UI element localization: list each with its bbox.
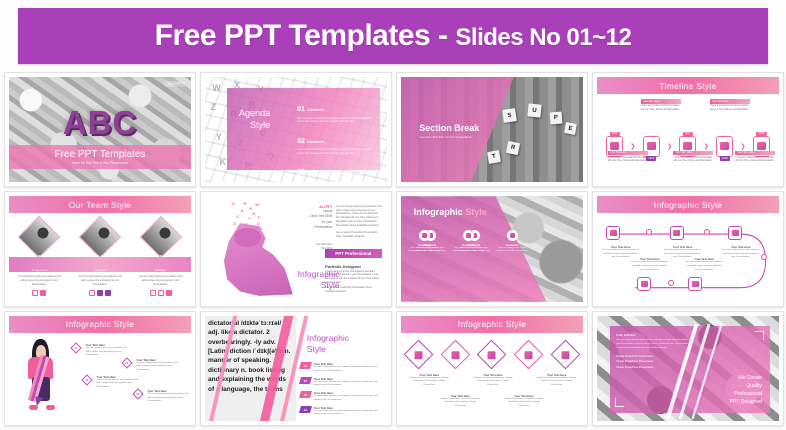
timeline-note-body: I hope and I believe that this Template … [608,157,648,164]
social-links [76,290,124,296]
slide-03-subtitle: Insert the Sub Title of Your Presentatio… [419,135,479,139]
slide-thumbnail-06[interactable]: ORW EAN CTF DZO BPX MTV ALLPPT Layout Cl… [200,191,392,306]
agenda-item-desc: Get a modern PowerPoint Presentation tha… [297,180,372,183]
woman-with-pencil-illustration [24,339,64,411]
diamond-node[interactable] [514,340,544,370]
portfolio-heading: Portfolio Designed [325,264,381,269]
person-icon [415,351,423,359]
path-infographic: Your Text Here You can simply impress yo… [597,213,779,301]
timeline-note-head: Your Text Here [608,151,648,156]
timeline-step-date: 2019 [756,132,766,136]
slide-04-title: Timeline Style [659,81,716,91]
slide-thumbnail-01[interactable]: ALLPPT ABC Free PPT Templates Insert the… [4,72,196,187]
pencil-item[interactable]: 01 Your Text Here You can simply impress… [85,343,129,358]
path-connector-dot [761,254,767,260]
diamond-note: Your Text Here Simple PowerPoint Present… [536,373,578,388]
banner-title-separator: - [430,19,455,52]
closing-tagline-line: PPT Designed [730,398,762,406]
agenda-item-label: Contents [307,170,324,175]
team-member-name: Tony Nelson [152,254,170,258]
timeline-note: Your Text Here I hope and I believe that… [608,151,648,164]
timeline-note-head: Your Text Here [710,99,750,104]
item-number: 01 [299,362,312,369]
corner-bracket-bottom-left [615,398,624,407]
timeline-note-body: I hope and I believe that this Template … [710,105,750,112]
page-banner: Free PPT Templates - Slides No 01~12 [18,8,768,64]
template-gallery-page: Free PPT Templates - Slides No 01~12 ALL… [0,0,786,430]
briefcase-icon [683,142,692,150]
node-body: You can simply impress your audience and… [450,247,486,254]
item-number: 02 [86,378,89,381]
slide-01-title: Free PPT Templates [9,149,191,160]
twitter-icon[interactable] [32,290,38,296]
slide-03-canvas: S U P E R T Section Break Insert the Sub… [401,77,583,182]
slide-12-canvas: Fully Editable You can simply impress yo… [597,316,779,421]
timeline-note: Your Text Here I hope and I believe that… [641,99,681,112]
share-icon [510,233,515,238]
slide-10-title: Infographic Style [307,333,349,356]
diamond-note-body: Simple PowerPoint Presentation, Simple P… [408,377,450,388]
agenda-item-number: 01 [297,106,305,113]
slide-05-title: Our Team Style [69,200,132,210]
banner-title-main: Free PPT Templates [155,19,431,52]
team-member-identity: Tony Nelson Manager [152,254,170,276]
timeline-step-date: 2017 [683,132,693,136]
social-links [15,290,63,296]
camera-icon [610,142,619,150]
slide-05-canvas: Our Team Style John Nesimer Programmer B… [9,196,191,301]
timeline-note: Your Text Here I hope and I believe that… [673,151,713,164]
diamond-node[interactable] [404,340,434,370]
agenda-item-desc: Get a modern PowerPoint Presentation tha… [297,148,372,156]
item-number-diamond: 02 [82,374,93,385]
numbered-item[interactable]: 03 Your Text Here You can simply impress… [300,391,382,402]
timeline-note-head: Your Text Here [673,151,713,156]
diamond-note-body: Simple PowerPoint Presentation, Simple P… [439,398,481,409]
title-band: Free PPT Templates Insert the Sub Title … [9,145,191,169]
item-body: You can simply impress your audience and… [96,379,140,390]
timeline-note-body: I hope and I believe that this Template … [735,157,775,164]
team-details: You can simply impress your audience and… [9,276,191,296]
person-head [234,228,261,247]
diamond-note-body: Simple PowerPoint Presentation, Simple P… [503,398,545,409]
infographic-node[interactable]: Contents You can simply impress your aud… [494,230,530,253]
diamond-node[interactable] [441,340,471,370]
slide-09-canvas: Infographic Style 01 Your Text Here You … [9,316,191,421]
slide-07-title-main: Infographic [414,207,463,217]
slide-06-title: Infographic Style [278,269,340,291]
trophy-icon [525,351,533,359]
youtube-icon[interactable] [158,290,164,296]
closing-link[interactable]: Simple PowerPoint Presentation [616,365,693,370]
avatar [79,215,121,257]
path-node[interactable] [670,226,684,240]
team-member-identity: Bella James Designer [92,254,109,276]
slide-thumbnail-11[interactable]: Infographic Style Your Text Here Simple … [396,311,588,426]
agenda-item-number: 02 [297,138,305,145]
agenda-item[interactable]: 02Contents Get a modern PowerPoint Prese… [297,130,372,156]
team-member-desc: You can simply impress your audience and… [15,276,63,287]
diamond-node[interactable] [550,340,580,370]
twitter-icon[interactable] [89,290,95,296]
timeline-step[interactable]: 2018 [716,136,733,157]
closing-heading: Fully Editable [616,333,693,337]
item-body: You can simply impress your audience and… [314,410,382,417]
pink-overlay-panel: Fully Editable You can simply impress yo… [610,326,770,412]
slide-07-canvas: Infographic Style Contents You can simpl… [401,196,583,301]
body-copy: You can simply impress your audience and… [336,205,382,242]
item-number: 03 [299,391,312,398]
shoe-shape [29,405,38,410]
left-label: Presentation [296,225,332,230]
briefcase-icon [692,281,699,287]
item-text: Your Text Here You can simply impress yo… [314,391,382,402]
abc-letters: ABC [9,104,191,142]
team-member-detail: You can simply impress your audience and… [15,276,63,296]
slide-09-title: Infographic Style [66,319,134,329]
path-node[interactable] [606,226,620,240]
team-member-detail: You can simply impress your audience and… [137,276,185,296]
camera-icon [732,230,739,236]
timeline-note: Your Text Here I hope and I believe that… [735,151,775,164]
closing-tagline-line: Quality [730,382,762,390]
slide-thumbnail-07[interactable]: Infographic Style Contents You can simpl… [396,191,588,306]
pencil-item[interactable]: 02 Your Text Here You can simply impress… [96,375,140,390]
numbered-item[interactable]: 04 Your Text Here You can simply impress… [300,406,382,417]
allppt-logo: ALLPPT [164,81,185,87]
slide-10-title-line2: Style [307,344,349,355]
item-number-diamond: 03 [122,357,133,368]
mail-icon [673,230,680,236]
slide-thumbnail-04[interactable]: Timeline Style Your Text Here I hope and… [592,72,784,187]
pencil-item[interactable]: 03 Your Text Here You can simply impress… [136,358,180,373]
corner-bracket-top-right [755,331,764,340]
timeline-note: Your Text Here I hope and I believe that… [710,99,750,112]
node-icon-circle [507,230,518,241]
diamond-note-body: Simple PowerPoint Presentation, Simple P… [536,377,578,388]
path-note-body: You can simply impress your audience and… [684,261,724,272]
agenda-item-label: Contents [307,139,324,144]
diamond-note: Your Text Here Simple PowerPoint Present… [408,373,450,388]
banner-title: Free PPT Templates - Slides No 01~12 [155,19,632,53]
slide-07-title-accent: Style [465,207,487,217]
slide-04-header: Timeline Style [597,77,779,94]
path-note-body: You can simply impress your audience and… [721,249,761,260]
chevron-right-icon: ❯ [667,143,672,150]
slide-10-canvas: dictatorial /dɪktəˈtɔːrɪəl/ adj. like a … [205,316,387,421]
cart-icon [488,351,496,359]
slide-07-title: Infographic Style [414,207,487,217]
slide-06-title-line1: Infographic [278,269,340,280]
node-icon-circle [419,230,430,241]
slide-thumbnail-03[interactable]: S U P E R T Section Break Insert the Sub… [396,72,588,187]
agenda-title-line2: Style [239,119,270,131]
lock-icon [561,351,569,359]
path-node[interactable] [637,277,651,291]
agenda-panel: Agenda Style 01Contents Get a modern Pow… [227,88,380,170]
team-member-desc: You can simply impress your audience and… [76,276,124,287]
slide-06-canvas: ORW EAN CTF DZO BPX MTV ALLPPT Layout Cl… [205,196,387,301]
agenda-title-line1: Agenda [239,107,270,119]
team-photos [9,222,191,252]
infographic-node[interactable]: Contents You can simply impress your aud… [450,230,486,253]
item-body: You can simply impress your audience and… [85,347,129,358]
section-break-text: Section Break Insert the Sub Title of Yo… [419,123,479,139]
node-body: You can simply impress your audience and… [494,247,530,254]
diamond-nodes [408,344,575,365]
timeline-step-date: 2018 [720,156,730,160]
item-number-diamond: 04 [133,389,144,400]
gear-icon [720,142,729,150]
chevron-right-icon: ❯ [630,143,635,150]
slide-grid: ALLPPT ABC Free PPT Templates Insert the… [4,72,784,426]
chat-icon [451,351,459,359]
avatar [18,215,60,257]
agenda-item-desc: Get a modern PowerPoint Presentation tha… [297,117,372,125]
slide-08-canvas: Infographic Style Your T [597,196,779,301]
slide-thumbnail-02[interactable]: WXY ZRB YZU KPQ Agenda Style 01Contents … [200,72,392,187]
agenda-item-number: 03 [297,169,305,176]
timeline-note-head: Your Text Here [641,99,681,104]
node-icon-circle [463,230,474,241]
slide-thumbnail-09[interactable]: Infographic Style 01 Your Text Here You … [4,311,196,426]
closing-tagline: We Create Quality Professional PPT Desig… [730,374,762,406]
agenda-item[interactable]: 03Contents Get a modern PowerPoint Prese… [297,161,372,182]
body-paragraph: Get a modern PowerPoint Presentation tha… [336,231,382,239]
social-links [137,290,185,296]
timeline-note-head: Your Text Here [735,151,775,156]
team-member-identity: John Nesimer Programmer [30,254,50,276]
agenda-items: 01Contents Get a modern PowerPoint Prese… [297,98,372,182]
team-member-name: Bella James [92,254,109,258]
infographic-node[interactable]: Contents You can simply impress your aud… [406,230,442,253]
slide-02-canvas: WXY ZRB YZU KPQ Agenda Style 01Contents … [205,77,387,182]
item-number: 01 [75,347,78,350]
slide-11-title: Infographic Style [458,319,526,329]
slide-11-canvas: Infographic Style Your Text Here Simple … [401,316,583,421]
timeline-note-body: I hope and I believe that this Template … [641,105,681,112]
chevron-right-icon: ❯ [740,143,745,150]
share-icon [610,230,617,236]
agenda-title: Agenda Style [239,107,270,131]
timeline-body: Your Text Here I hope and I believe that… [597,94,779,182]
slide-thumbnail-05[interactable]: Our Team Style John Nesimer Programmer B… [4,191,196,306]
slide-thumbnail-08[interactable]: Infographic Style Your T [592,191,784,306]
agenda-item-label: Contents [307,107,324,112]
slide-08-title: Infographic Style [654,200,722,210]
rocket-icon [757,142,766,150]
youtube-icon[interactable] [40,290,46,296]
slide-04-canvas: Timeline Style Your Text Here I hope and… [597,77,779,182]
slide-03-title: Section Break [419,123,479,133]
item-number: 04 [299,406,312,413]
team-name-band: John Nesimer Programmer Bella James Desi… [9,257,191,272]
path-note: Your Text Here You can simply impress yo… [721,245,761,260]
closing-tagline-line: We Create [730,374,762,382]
lightbulb-icon [422,233,427,238]
youtube-icon[interactable] [97,290,103,296]
path-node[interactable] [688,277,702,291]
item-number: 03 [126,361,129,364]
item-text: Your Text Here You can simply impress yo… [314,362,382,373]
diamond-note: Your Text Here Simple PowerPoint Present… [439,394,481,409]
timeline-note-body: I hope and I believe that this Template … [673,157,713,164]
chevron-right-icon: ❯ [704,143,709,150]
slide-01-subtitle: Insert the Sub Title of Your Presentatio… [9,161,191,165]
timeline-step-date: 2015 [610,132,620,136]
team-member-name: John Nesimer [30,254,50,258]
twitter-icon[interactable] [150,290,156,296]
item-body: You can simply impress your audience and… [314,366,382,373]
shoe-shape [46,405,55,410]
avatar [139,215,181,257]
numbered-item[interactable]: 01 Your Text Here You can simply impress… [300,362,382,373]
left-label-column: ALLPPT Layout Clean Text Slide for your … [296,205,332,231]
agenda-item[interactable]: 01Contents Get a modern PowerPoint Prese… [297,98,372,124]
slide-06-title-line2: Style [278,280,340,291]
team-member-role: Designer [95,268,106,272]
team-member-role: Manager [155,268,166,272]
slide-08-header: Infographic Style [597,196,779,213]
slide-thumbnail-12[interactable]: Fully Editable You can simply impress yo… [592,311,784,426]
slide-11-header: Infographic Style [401,316,583,333]
diamond-node[interactable] [477,340,507,370]
path-node[interactable] [728,226,742,240]
item-body: You can simply impress your audience and… [314,381,382,388]
numbered-items: 01 Your Text Here You can simply impress… [300,362,382,421]
item-body: You can simply impress your audience and… [147,393,191,404]
closing-tagline-line: Professional [730,390,762,398]
path-note: Your Text Here You can simply impress yo… [630,257,670,272]
thumbs-up-icon [641,281,648,287]
slide-thumbnail-10[interactable]: dictatorial /dɪktəˈtɔːrɪəl/ adj. like a … [200,311,392,426]
diamond-note-body: Simple PowerPoint Presentation, Simple P… [472,377,514,388]
thumbs-up-icon [647,142,656,150]
closing-left-text: Fully Editable You can simply impress yo… [616,333,693,370]
diamond-note: Your Text Here Simple PowerPoint Present… [503,394,545,409]
body-paragraph: You can simply impress your audience and… [336,205,382,228]
slide-09-header: Infographic Style [9,316,191,333]
path-note-body: You can simply impress your audience and… [630,261,670,272]
ppt-professional-badge: PPT Professional [325,249,381,258]
item-body: You can simply impress your audience and… [314,395,382,402]
item-number: 02 [299,377,312,384]
item-number-diamond: 01 [71,342,82,353]
slide-05-header: Our Team Style [9,196,191,213]
team-member-detail: You can simply impress your audience and… [76,276,124,296]
numbered-item[interactable]: 02 Your Text Here You can simply impress… [300,377,382,388]
item-text: Your Text Here You can simply impress yo… [314,406,382,417]
slide-01-canvas: ALLPPT ABC Free PPT Templates Insert the… [9,77,191,182]
facebook-icon[interactable] [105,290,111,296]
path-note: Your Text Here You can simply impress yo… [684,257,724,272]
closing-body: You can simply impress your audience and… [616,339,693,350]
item-body: You can simply impress your audience and… [136,362,180,373]
item-text: Your Text Here You can simply impress yo… [314,377,382,388]
banner-title-sub: Slides No 01~12 [455,24,631,51]
diamond-note: Your Text Here Simple PowerPoint Present… [472,373,514,388]
slide-10-title-line1: Infographic [307,333,349,344]
pencil-item[interactable]: 04 Your Text Here You can simply impress… [147,389,191,404]
globe-icon [466,233,471,238]
facebook-icon[interactable] [166,290,172,296]
node-body: You can simply impress your audience and… [406,247,442,254]
item-number: 04 [137,393,140,396]
team-member-role: Programmer [32,268,48,272]
team-member-desc: You can simply impress your audience and… [137,276,185,287]
